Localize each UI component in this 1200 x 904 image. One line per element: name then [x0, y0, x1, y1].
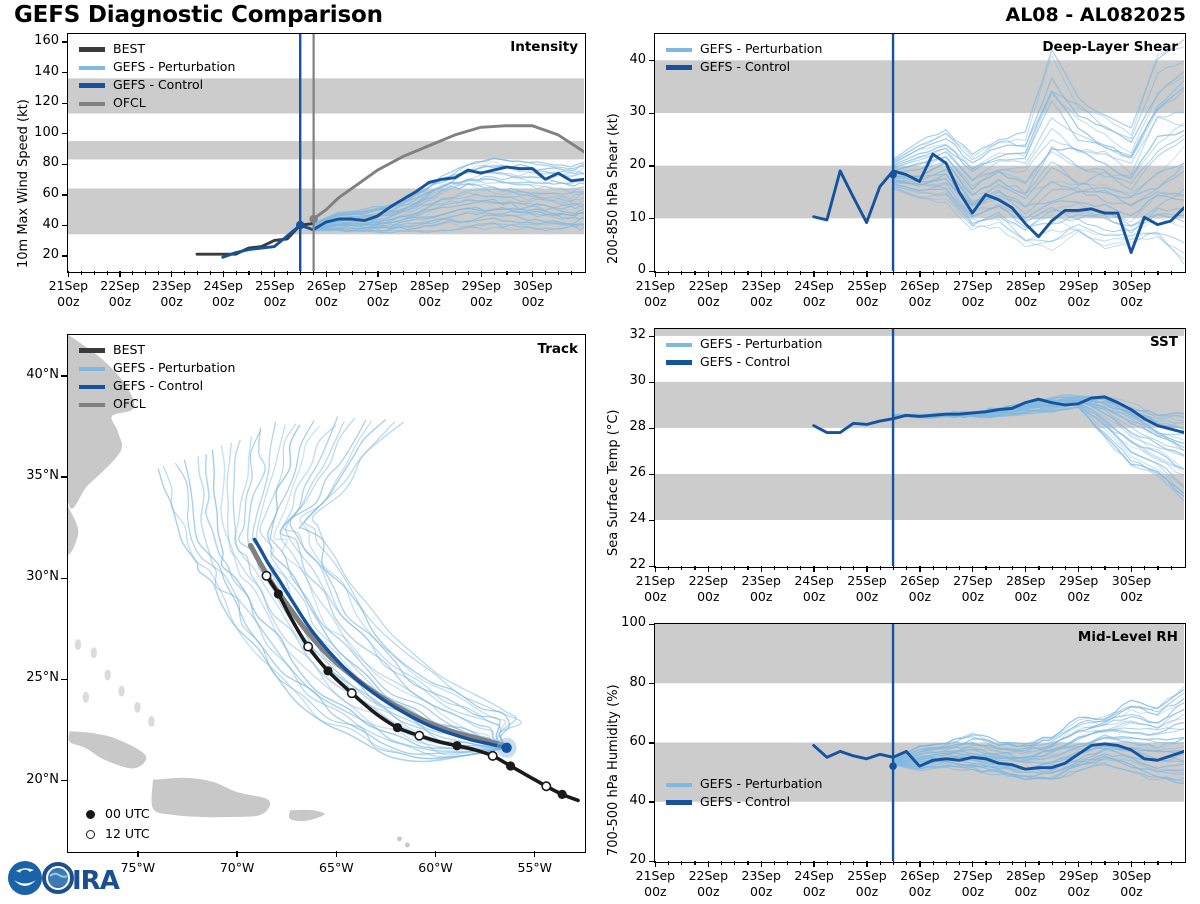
x-tick-mark: [866, 861, 867, 867]
x-tick-day: 28Sep: [1006, 278, 1045, 293]
legend-swatch: [79, 367, 105, 371]
y-tick-label: 22: [606, 557, 646, 572]
x-tick-hour: 00z: [909, 589, 931, 604]
x-tick-mark: [972, 861, 973, 867]
x-minor-tick: [1091, 861, 1092, 864]
track-legend: BESTGEFS - PerturbationGEFS - ControlOFC…: [79, 343, 235, 415]
y-tick-label: 40: [19, 217, 59, 232]
marker-legend-entry: 12 UTC: [78, 826, 150, 842]
x-minor-tick: [1052, 566, 1053, 569]
x-minor-tick: [81, 271, 82, 274]
x-minor-tick: [893, 566, 894, 569]
x-tick-mark: [972, 566, 973, 572]
x-tick-mark: [866, 566, 867, 572]
x-tick-mark: [813, 566, 814, 572]
track-marker-legend: 00 UTC12 UTC: [78, 806, 150, 846]
x-minor-tick: [694, 566, 695, 569]
legend-label: BEST: [113, 43, 145, 56]
legend-swatch: [666, 783, 692, 787]
x-tick-day: 28Sep: [410, 278, 449, 293]
x-minor-tick: [1091, 566, 1092, 569]
y-tick-label: 160: [19, 33, 59, 48]
x-tick-hour: 00z: [962, 294, 984, 309]
x-tick-day: 21Sep: [636, 868, 675, 883]
x-tick-hour: 00z: [1014, 884, 1036, 899]
x-tick-day: 22Sep: [689, 573, 728, 588]
lat-tick-label: 20°N: [11, 772, 59, 787]
x-tick-day: 24Sep: [794, 278, 833, 293]
x-tick-hour: 00z: [803, 884, 825, 899]
y-tick-label: 0: [606, 262, 646, 277]
x-tick-day: 30Sep: [1112, 278, 1151, 293]
lon-tick-mark: [336, 851, 337, 857]
legend-entry: GEFS - Control: [666, 795, 822, 810]
y-tick-mark: [62, 194, 67, 195]
x-minor-tick: [721, 271, 722, 274]
x-tick-mark: [1131, 271, 1132, 277]
x-minor-tick: [1157, 861, 1158, 864]
x-tick-mark: [532, 271, 533, 277]
y-tick-mark: [62, 133, 67, 134]
x-minor-tick: [403, 271, 404, 274]
x-minor-tick: [94, 271, 95, 274]
x-tick-day: 28Sep: [1006, 868, 1045, 883]
x-tick-hour: 00z: [697, 294, 719, 309]
marker-12utc-icon: [86, 830, 95, 839]
x-minor-tick: [442, 271, 443, 274]
x-tick-day: 24Sep: [794, 868, 833, 883]
x-tick-hour: 00z: [367, 294, 389, 309]
x-tick-label: 30Sep00z: [1098, 868, 1166, 899]
legend-swatch: [79, 348, 105, 353]
x-minor-tick: [800, 566, 801, 569]
x-minor-tick: [1038, 271, 1039, 274]
lat-tick-mark: [61, 375, 67, 376]
x-minor-tick: [184, 271, 185, 274]
x-minor-tick: [1065, 566, 1066, 569]
lat-tick-label: 25°N: [11, 670, 59, 685]
y-tick-label: 10: [606, 210, 646, 225]
x-tick-day: 23Sep: [152, 278, 191, 293]
lat-tick-mark: [61, 780, 67, 781]
y-tick-label: 32: [606, 327, 646, 342]
x-minor-tick: [107, 271, 108, 274]
x-tick-day: 21Sep: [636, 573, 675, 588]
y-tick-mark: [649, 566, 654, 567]
x-tick-hour: 00z: [1067, 589, 1089, 604]
x-tick-day: 26Sep: [307, 278, 346, 293]
x-tick-day: 22Sep: [689, 868, 728, 883]
x-minor-tick: [1144, 861, 1145, 864]
x-tick-day: 29Sep: [1059, 573, 1098, 588]
lon-tick-mark: [137, 851, 138, 857]
x-tick-mark: [68, 271, 69, 277]
x-tick-day: 26Sep: [900, 278, 939, 293]
x-minor-tick: [880, 566, 881, 569]
x-tick-mark: [813, 271, 814, 277]
legend-label: GEFS - Perturbation: [113, 61, 235, 74]
lat-tick-mark: [61, 476, 67, 477]
legend-swatch: [666, 343, 692, 347]
y-tick-mark: [649, 60, 654, 61]
x-minor-tick: [734, 271, 735, 274]
x-minor-tick: [999, 271, 1000, 274]
x-tick-hour: 00z: [697, 589, 719, 604]
x-tick-day: 27Sep: [358, 278, 397, 293]
x-minor-tick: [390, 271, 391, 274]
x-minor-tick: [985, 271, 986, 274]
x-minor-tick: [694, 271, 695, 274]
x-minor-tick: [158, 271, 159, 274]
y-tick-label: 28: [606, 419, 646, 434]
x-minor-tick: [494, 271, 495, 274]
x-minor-tick: [774, 271, 775, 274]
legend-label: GEFS - Control: [113, 380, 203, 393]
x-minor-tick: [853, 566, 854, 569]
legend-label: GEFS - Perturbation: [700, 338, 822, 351]
legend-label: GEFS - Control: [700, 796, 790, 809]
x-minor-tick: [571, 271, 572, 274]
lon-tick-mark: [435, 851, 436, 857]
page-title: GEFS Diagnostic Comparison: [14, 2, 383, 28]
x-minor-tick: [734, 861, 735, 864]
x-minor-tick: [287, 271, 288, 274]
x-minor-tick: [365, 271, 366, 274]
x-minor-tick: [721, 566, 722, 569]
y-tick-label: 80: [606, 675, 646, 690]
x-tick-hour: 00z: [750, 884, 772, 899]
x-tick-mark: [481, 271, 482, 277]
y-tick-mark: [62, 103, 67, 104]
lat-tick-label: 40°N: [11, 367, 59, 382]
x-tick-mark: [1078, 271, 1079, 277]
x-tick-day: 29Sep: [1059, 868, 1098, 883]
x-tick-day: 30Sep: [1112, 868, 1151, 883]
x-tick-hour: 00z: [1120, 884, 1142, 899]
legend-swatch: [79, 47, 105, 52]
legend-label: GEFS - Perturbation: [700, 778, 822, 791]
x-tick-mark: [708, 271, 709, 277]
x-tick-mark: [1025, 271, 1026, 277]
x-minor-tick: [787, 271, 788, 274]
x-tick-mark: [761, 271, 762, 277]
x-minor-tick: [668, 271, 669, 274]
x-minor-tick: [853, 271, 854, 274]
x-minor-tick: [774, 566, 775, 569]
x-tick-hour: 00z: [1067, 294, 1089, 309]
x-minor-tick: [519, 271, 520, 274]
x-tick-mark: [919, 861, 920, 867]
x-tick-hour: 00z: [1067, 884, 1089, 899]
x-tick-mark: [1131, 566, 1132, 572]
x-tick-day: 21Sep: [636, 278, 675, 293]
x-tick-mark: [708, 566, 709, 572]
x-minor-tick: [906, 566, 907, 569]
x-tick-mark: [972, 271, 973, 277]
noaa-logo-icon: [8, 861, 42, 895]
lon-tick-label: 60°W: [402, 860, 470, 876]
x-tick-mark: [326, 271, 327, 277]
legend-swatch: [79, 83, 105, 88]
x-minor-tick: [1157, 566, 1158, 569]
x-tick-hour: 00z: [160, 294, 182, 309]
x-minor-tick: [959, 566, 960, 569]
x-minor-tick: [1118, 566, 1119, 569]
x-minor-tick: [840, 861, 841, 864]
lat-tick-label: 35°N: [11, 468, 59, 483]
lon-tick-label: 70°W: [203, 860, 271, 876]
x-tick-day: 23Sep: [741, 573, 780, 588]
y-tick-label: 20: [19, 247, 59, 262]
y-tick-label: 30: [606, 104, 646, 119]
x-minor-tick: [787, 861, 788, 864]
x-minor-tick: [747, 271, 748, 274]
y-tick-label: 24: [606, 511, 646, 526]
x-tick-mark: [1078, 861, 1079, 867]
x-minor-tick: [300, 271, 301, 274]
x-minor-tick: [1118, 861, 1119, 864]
x-minor-tick: [1104, 861, 1105, 864]
x-minor-tick: [1171, 861, 1172, 864]
legend-label: BEST: [113, 344, 145, 357]
x-tick-hour: 00z: [803, 589, 825, 604]
x-tick-day: 22Sep: [689, 278, 728, 293]
rh-panel: [654, 623, 1186, 863]
legend-swatch: [79, 66, 105, 70]
legend-label: GEFS - Control: [113, 79, 203, 92]
x-tick-day: 27Sep: [953, 573, 992, 588]
x-minor-tick: [545, 271, 546, 274]
x-tick-day: 22Sep: [100, 278, 139, 293]
x-tick-hour: 00z: [264, 294, 286, 309]
x-tick-hour: 00z: [644, 589, 666, 604]
y-tick-mark: [62, 41, 67, 42]
x-tick-mark: [813, 861, 814, 867]
x-tick-day: 25Sep: [847, 278, 886, 293]
branding-logos: IRA: [6, 856, 136, 900]
legend-label: OFCL: [113, 97, 146, 110]
x-tick-day: 23Sep: [741, 278, 780, 293]
x-tick-hour: 00z: [57, 294, 79, 309]
y-tick-mark: [649, 520, 654, 521]
x-minor-tick: [210, 271, 211, 274]
x-tick-mark: [223, 271, 224, 277]
x-minor-tick: [261, 271, 262, 274]
x-tick-hour: 00z: [803, 294, 825, 309]
x-tick-mark: [655, 566, 656, 572]
x-minor-tick: [455, 271, 456, 274]
x-tick-mark: [919, 566, 920, 572]
legend-entry: GEFS - Control: [79, 379, 235, 394]
y-tick-mark: [649, 624, 654, 625]
x-tick-day: 26Sep: [900, 868, 939, 883]
legend-swatch: [79, 403, 105, 407]
x-minor-tick: [1118, 271, 1119, 274]
x-minor-tick: [1104, 566, 1105, 569]
x-minor-tick: [558, 271, 559, 274]
x-minor-tick: [1171, 566, 1172, 569]
y-tick-mark: [649, 336, 654, 337]
y-tick-mark: [649, 428, 654, 429]
x-minor-tick: [985, 861, 986, 864]
x-tick-hour: 00z: [962, 589, 984, 604]
x-tick-day: 23Sep: [741, 868, 780, 883]
x-tick-mark: [1025, 566, 1026, 572]
x-tick-hour: 00z: [750, 589, 772, 604]
cira-logo-icon: IRA: [44, 864, 120, 896]
x-tick-mark: [1025, 861, 1026, 867]
legend-label: OFCL: [113, 398, 146, 411]
lon-tick-label: 55°W: [501, 860, 569, 876]
legend-entry: GEFS - Perturbation: [79, 361, 235, 376]
x-minor-tick: [946, 566, 947, 569]
storm-id-title: AL08 - AL082025: [1006, 4, 1187, 26]
y-tick-label: 120: [19, 94, 59, 109]
rh-plot-svg: [655, 624, 1184, 861]
y-tick-label: 100: [606, 615, 646, 630]
x-minor-tick: [959, 861, 960, 864]
x-tick-day: 27Sep: [953, 868, 992, 883]
x-tick-mark: [761, 566, 762, 572]
x-minor-tick: [1104, 271, 1105, 274]
x-tick-hour: 00z: [418, 294, 440, 309]
x-minor-tick: [1038, 861, 1039, 864]
lon-tick-mark: [236, 851, 237, 857]
y-tick-label: 140: [19, 64, 59, 79]
marker-legend-label: 00 UTC: [105, 808, 150, 821]
legend-label: GEFS - Perturbation: [113, 362, 235, 375]
x-minor-tick: [1144, 271, 1145, 274]
lon-tick-label: 65°W: [302, 860, 370, 876]
x-minor-tick: [1012, 271, 1013, 274]
x-minor-tick: [145, 271, 146, 274]
x-minor-tick: [1065, 861, 1066, 864]
x-minor-tick: [827, 566, 828, 569]
x-minor-tick: [747, 861, 748, 864]
x-tick-mark: [761, 861, 762, 867]
x-minor-tick: [999, 861, 1000, 864]
intensity-legend: BESTGEFS - PerturbationGEFS - ControlOFC…: [79, 42, 235, 114]
legend-entry: OFCL: [79, 397, 235, 412]
x-tick-hour: 00z: [750, 294, 772, 309]
y-tick-label: 80: [19, 155, 59, 170]
legend-entry: GEFS - Control: [79, 78, 235, 93]
x-tick-hour: 00z: [856, 589, 878, 604]
x-minor-tick: [506, 271, 507, 274]
legend-entry: GEFS - Perturbation: [666, 337, 822, 352]
x-minor-tick: [339, 271, 340, 274]
x-tick-mark: [274, 271, 275, 277]
y-tick-label: 26: [606, 465, 646, 480]
y-tick-mark: [649, 218, 654, 219]
gefs-diagnostic-page: GEFS Diagnostic Comparison AL08 - AL0820…: [0, 0, 1200, 900]
rh-y-axis-label: 700-500 hPa Humidity (%): [606, 684, 621, 856]
y-tick-label: 60: [19, 186, 59, 201]
x-tick-hour: 00z: [1014, 589, 1036, 604]
x-minor-tick: [933, 271, 934, 274]
x-tick-hour: 00z: [212, 294, 234, 309]
x-minor-tick: [1144, 566, 1145, 569]
x-tick-label: 30Sep00z: [1098, 573, 1166, 604]
x-minor-tick: [840, 566, 841, 569]
legend-label: GEFS - Control: [700, 356, 790, 369]
x-tick-day: 25Sep: [847, 868, 886, 883]
x-tick-hour: 00z: [856, 294, 878, 309]
shear-legend: GEFS - PerturbationGEFS - Control: [666, 42, 822, 78]
x-minor-tick: [840, 271, 841, 274]
x-minor-tick: [800, 271, 801, 274]
y-tick-mark: [649, 113, 654, 114]
x-tick-hour: 00z: [697, 884, 719, 899]
legend-swatch: [666, 360, 692, 365]
x-tick-hour: 00z: [315, 294, 337, 309]
x-tick-mark: [866, 271, 867, 277]
x-minor-tick: [946, 861, 947, 864]
x-minor-tick: [1038, 566, 1039, 569]
x-minor-tick: [933, 861, 934, 864]
x-minor-tick: [1012, 861, 1013, 864]
x-minor-tick: [694, 861, 695, 864]
x-tick-mark: [655, 861, 656, 867]
x-tick-day: 27Sep: [953, 278, 992, 293]
x-minor-tick: [880, 861, 881, 864]
x-tick-day: 29Sep: [1059, 278, 1098, 293]
legend-label: GEFS - Control: [700, 61, 790, 74]
x-tick-mark: [171, 271, 172, 277]
legend-entry: GEFS - Perturbation: [79, 60, 235, 75]
x-minor-tick: [1157, 271, 1158, 274]
x-minor-tick: [1171, 271, 1172, 274]
x-tick-day: 26Sep: [900, 573, 939, 588]
x-minor-tick: [787, 566, 788, 569]
shear-y-axis-label: 200-850 hPa Shear (kt): [606, 113, 621, 264]
lat-tick-label: 30°N: [11, 569, 59, 584]
x-tick-hour: 00z: [1120, 589, 1142, 604]
y-tick-label: 20: [606, 852, 646, 867]
x-minor-tick: [1091, 271, 1092, 274]
x-tick-label: 30Sep00z: [1098, 278, 1166, 309]
lat-tick-mark: [61, 679, 67, 680]
lat-tick-mark: [61, 578, 67, 579]
x-tick-day: 24Sep: [794, 573, 833, 588]
x-tick-mark: [919, 271, 920, 277]
rh-legend: GEFS - PerturbationGEFS - Control: [666, 777, 822, 813]
y-tick-label: 30: [606, 373, 646, 388]
x-minor-tick: [985, 566, 986, 569]
y-tick-mark: [649, 474, 654, 475]
y-tick-label: 20: [606, 157, 646, 172]
y-tick-mark: [649, 271, 654, 272]
x-tick-hour: 00z: [470, 294, 492, 309]
x-minor-tick: [681, 566, 682, 569]
y-tick-label: 100: [19, 125, 59, 140]
x-minor-tick: [853, 861, 854, 864]
y-tick-label: 60: [606, 734, 646, 749]
x-minor-tick: [774, 861, 775, 864]
y-tick-mark: [649, 683, 654, 684]
x-minor-tick: [248, 271, 249, 274]
x-minor-tick: [893, 861, 894, 864]
x-tick-label: 30Sep00z: [499, 278, 567, 309]
x-tick-mark: [708, 861, 709, 867]
x-tick-hour: 00z: [522, 294, 544, 309]
x-minor-tick: [1052, 271, 1053, 274]
x-tick-hour: 00z: [909, 884, 931, 899]
x-tick-hour: 00z: [644, 884, 666, 899]
legend-swatch: [79, 102, 105, 106]
y-tick-mark: [649, 382, 654, 383]
y-tick-mark: [649, 165, 654, 166]
